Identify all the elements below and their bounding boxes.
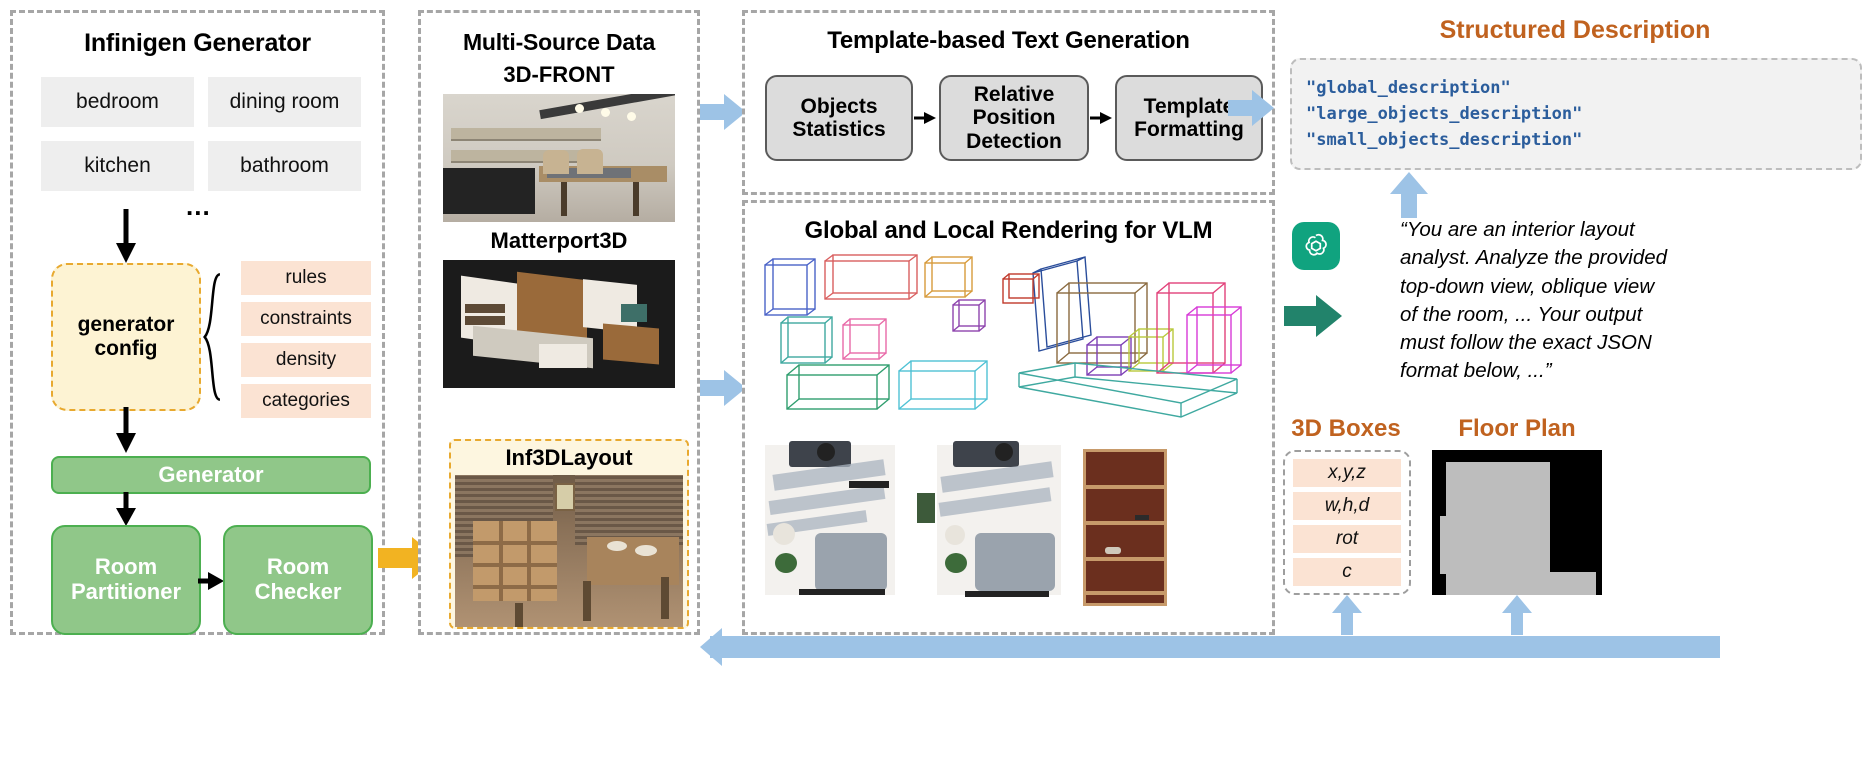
template-pipeline: Objects Statistics Relative Position Det… — [765, 75, 1263, 161]
objects-statistics-box[interactable]: Objects Statistics — [765, 75, 913, 161]
multi-source-data-panel: Multi-Source Data 3D-FRONT Matterport3D … — [418, 10, 700, 635]
objects-statistics-line2: Statistics — [792, 118, 885, 141]
room-checker-line2: Checker — [255, 580, 342, 605]
config-chip-rules[interactable]: rules — [241, 261, 371, 295]
room-chip-bedroom[interactable]: bedroom — [41, 77, 194, 127]
template-text-generation-panel: Template-based Text Generation Objects S… — [742, 10, 1275, 195]
template-panel-title: Template-based Text Generation — [745, 27, 1272, 55]
arrow-rooms-to-config-icon — [111, 209, 141, 265]
box-chip-c[interactable]: c — [1293, 558, 1401, 586]
source-thumbnail-3d-front — [443, 94, 675, 222]
room-type-grid: bedroom dining room kitchen bathroom — [41, 77, 361, 191]
arrow-objects-to-relative-icon — [913, 75, 939, 161]
relative-position-line1: Relative — [966, 83, 1062, 106]
generator-config-box[interactable]: generator config — [51, 263, 201, 411]
source-label-matterport3d: Matterport3D — [421, 228, 697, 254]
blue-arrow-up-to-3d-boxes-icon — [1330, 595, 1364, 637]
local-render-bookshelf — [1075, 441, 1175, 606]
room-partitioner-line2: Partitioner — [71, 580, 181, 605]
source-thumbnail-matterport3d — [443, 260, 675, 388]
topdown-render-2 — [917, 441, 1067, 606]
room-chip-bathroom[interactable]: bathroom — [208, 141, 361, 191]
structured-description-title: Structured Description — [1285, 16, 1865, 45]
global-local-rendering-panel: Global and Local Rendering for VLM — [742, 200, 1275, 635]
blue-arrow-up-to-floor-plan-icon — [1500, 595, 1534, 637]
rendered-views-row — [759, 441, 1175, 606]
config-chip-constraints[interactable]: constraints — [241, 302, 371, 336]
room-checker-line1: Room — [255, 555, 342, 580]
box-chip-xyz[interactable]: x,y,z — [1293, 459, 1401, 487]
config-chip-density[interactable]: density — [241, 343, 371, 377]
floor-plan-title: Floor Plan — [1432, 415, 1602, 443]
room-partitioner-box[interactable]: Room Partitioner — [51, 525, 201, 635]
generator-button[interactable]: Generator — [51, 456, 371, 494]
blue-arrow-to-structured-icon — [1228, 88, 1276, 128]
teal-arrow-to-prompt-icon — [1284, 292, 1344, 340]
infinigen-generator-panel: Infinigen Generator bedroom dining room … — [10, 10, 385, 635]
relative-position-line3: Detection — [966, 130, 1062, 153]
blue-arrow-up-to-structured-icon — [1388, 172, 1430, 220]
room-chip-dining-room[interactable]: dining room — [208, 77, 361, 127]
generator-config-line1: generator — [78, 313, 175, 337]
openai-logo-icon — [1292, 222, 1340, 270]
json-key-global-description: "global_description" — [1306, 78, 1846, 98]
infinigen-panel-title: Infinigen Generator — [13, 29, 382, 58]
arrow-config-to-generator-icon — [111, 407, 141, 455]
structured-description-box: "global_description" "large_objects_desc… — [1290, 58, 1862, 170]
room-partitioner-line1: Room — [71, 555, 181, 580]
source-label-3d-front: 3D-FRONT — [421, 62, 697, 88]
inf3dlayout-card[interactable]: Inf3DLayout — [449, 439, 689, 629]
topdown-render-1 — [759, 441, 909, 606]
relative-position-detection-box[interactable]: Relative Position Detection — [939, 75, 1089, 161]
generator-config-items: rules constraints density categories — [241, 261, 371, 418]
arrow-partitioner-to-checker-icon — [198, 569, 226, 593]
3d-boxes-list: x,y,z w,h,d rot c — [1283, 450, 1411, 595]
inf3dlayout-label: Inf3DLayout — [451, 445, 687, 471]
objects-statistics-line1: Objects — [792, 95, 885, 118]
multisource-panel-title: Multi-Source Data — [421, 29, 697, 56]
rendering-panel-title: Global and Local Rendering for VLM — [745, 217, 1272, 245]
room-checker-box[interactable]: Room Checker — [223, 525, 373, 635]
generator-config-line2: config — [78, 337, 175, 361]
vlm-prompt-text: “You are an interior layout analyst. Ana… — [1400, 216, 1670, 386]
arrow-generator-to-partitioner-icon — [111, 492, 141, 528]
room-list-ellipsis: ... — [186, 191, 211, 222]
json-key-small-objects-description: "small_objects_description" — [1306, 130, 1846, 150]
json-key-large-objects-description: "large_objects_description" — [1306, 104, 1846, 124]
bottom-feedback-bar — [710, 636, 1720, 658]
blue-arrow-to-template-icon — [700, 92, 748, 132]
relative-position-line2: Position — [966, 106, 1062, 129]
inf3dlayout-thumbnail — [455, 475, 683, 627]
room-chip-kitchen[interactable]: kitchen — [41, 141, 194, 191]
blue-arrow-to-rendering-icon — [700, 368, 748, 408]
config-chip-categories[interactable]: categories — [241, 384, 371, 418]
box-chip-rot[interactable]: rot — [1293, 525, 1401, 553]
curly-brace-icon — [203, 263, 225, 411]
3d-boxes-title: 3D Boxes — [1266, 415, 1426, 443]
box-chip-whd[interactable]: w,h,d — [1293, 492, 1401, 520]
floor-plan-image — [1432, 450, 1602, 595]
wireframe-3d-boxes-visualization — [757, 253, 1262, 433]
arrow-relative-to-template-icon — [1089, 75, 1115, 161]
